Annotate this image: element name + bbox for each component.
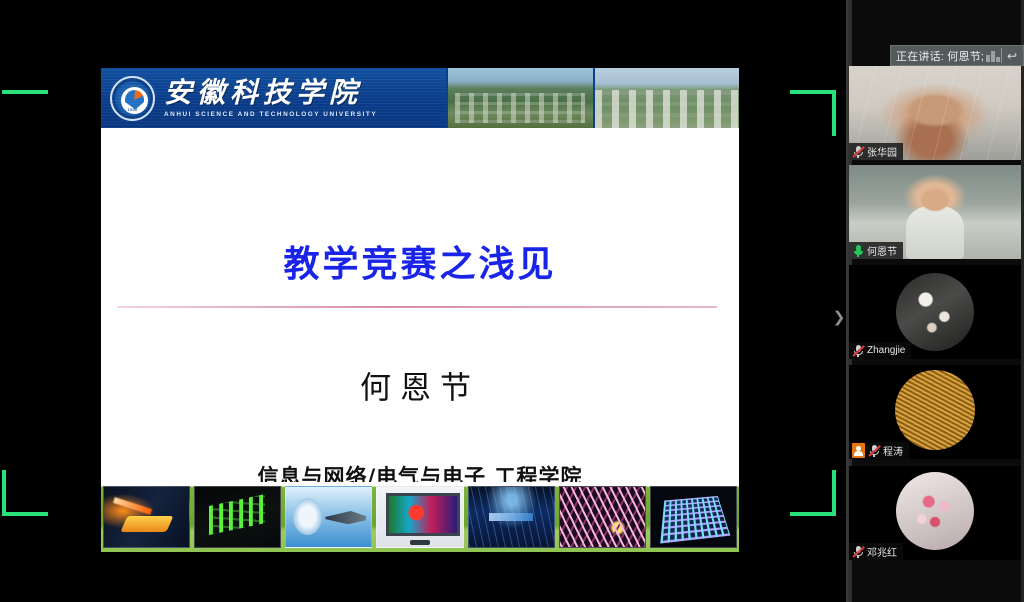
participant-tile[interactable]: 张华园: [849, 66, 1021, 160]
participant-name: 程涛: [883, 443, 903, 458]
microphone-active-icon: [852, 244, 864, 258]
return-arrow-icon[interactable]: ↩: [1007, 49, 1023, 63]
campus-aerial-photo: [446, 68, 593, 128]
shared-slide: 1950 安徽科技学院 ANHUI SCIENCE AND TECHNOLOGY…: [101, 68, 739, 552]
focus-bracket-top-right: [790, 48, 836, 94]
participant-name: 张华园: [867, 144, 897, 159]
participant-nameplate: 张华园: [849, 143, 903, 160]
thumb-laser-chip-illustration: [103, 486, 190, 548]
campus-building-photo: [593, 68, 740, 128]
participant-tile[interactable]: 邓兆红: [849, 466, 1021, 560]
thumb-nanostructure-lattice: [559, 486, 646, 548]
participant-name: Zhangjie: [867, 345, 905, 356]
slide-image-filmstrip: [101, 482, 739, 552]
audio-level-bars-icon: [986, 50, 1000, 62]
active-speaker-banner: 正在讲话: 何恩节; ↩: [890, 45, 1024, 66]
participant-tile[interactable]: 程涛: [849, 365, 1021, 459]
university-name-en: ANHUI SCIENCE AND TECHNOLOGY UNIVERSITY: [164, 111, 377, 118]
university-name-cn: 安徽科技学院: [164, 78, 377, 107]
microphone-muted-icon: [868, 444, 880, 458]
meeting-screen-share-window: 1950 安徽科技学院 ANHUI SCIENCE AND TECHNOLOGY…: [0, 0, 1024, 602]
active-speaker-label: 正在讲话: 何恩节;: [891, 48, 984, 64]
slide-header-band: 1950 安徽科技学院 ANHUI SCIENCE AND TECHNOLOGY…: [101, 68, 739, 128]
university-logo-block: 1950 安徽科技学院 ANHUI SCIENCE AND TECHNOLOGY…: [101, 68, 446, 128]
slide-title: 教学竞赛之浅见: [101, 235, 739, 287]
thumb-blue-energy-graphic: [468, 486, 555, 548]
slide-author-name: 何恩节: [101, 363, 739, 408]
microphone-muted-icon: [852, 344, 864, 358]
thumb-display-monitor: [376, 486, 463, 548]
participant-name: 邓兆红: [867, 544, 897, 559]
banner-divider: [1001, 48, 1002, 63]
thumb-fighter-jet-infrared: [285, 486, 372, 548]
focus-bracket-bottom-left: [2, 512, 48, 558]
thumb-green-nanorod-array: [194, 486, 281, 548]
focus-bracket-bottom-right: [790, 512, 836, 558]
participant-nameplate: 何恩节: [849, 242, 903, 259]
participant-nameplate: 程涛: [849, 442, 909, 459]
focus-bracket-top-left: [2, 48, 48, 94]
microphone-muted-icon: [852, 145, 864, 159]
university-crest-icon: 1950: [110, 76, 155, 121]
thumb-photonic-crystal-cube: [650, 486, 737, 548]
participant-tile[interactable]: Zhangjie: [849, 265, 1021, 359]
participant-name: 何恩节: [867, 243, 897, 258]
title-underline-rule: [117, 306, 717, 308]
crest-year-label: 1950: [112, 107, 153, 112]
microphone-muted-icon: [852, 545, 864, 559]
collapse-sidebar-chevron-icon[interactable]: ❯: [832, 305, 846, 331]
host-badge-icon: [852, 443, 865, 458]
participant-tile[interactable]: 何恩节: [849, 165, 1021, 259]
participant-nameplate: Zhangjie: [849, 342, 911, 359]
slide-body: 教学竞赛之浅见 何恩节 信息与网络/电气与电子 工程学院 2020.06.29: [101, 128, 739, 552]
participant-nameplate: 邓兆红: [849, 543, 903, 560]
